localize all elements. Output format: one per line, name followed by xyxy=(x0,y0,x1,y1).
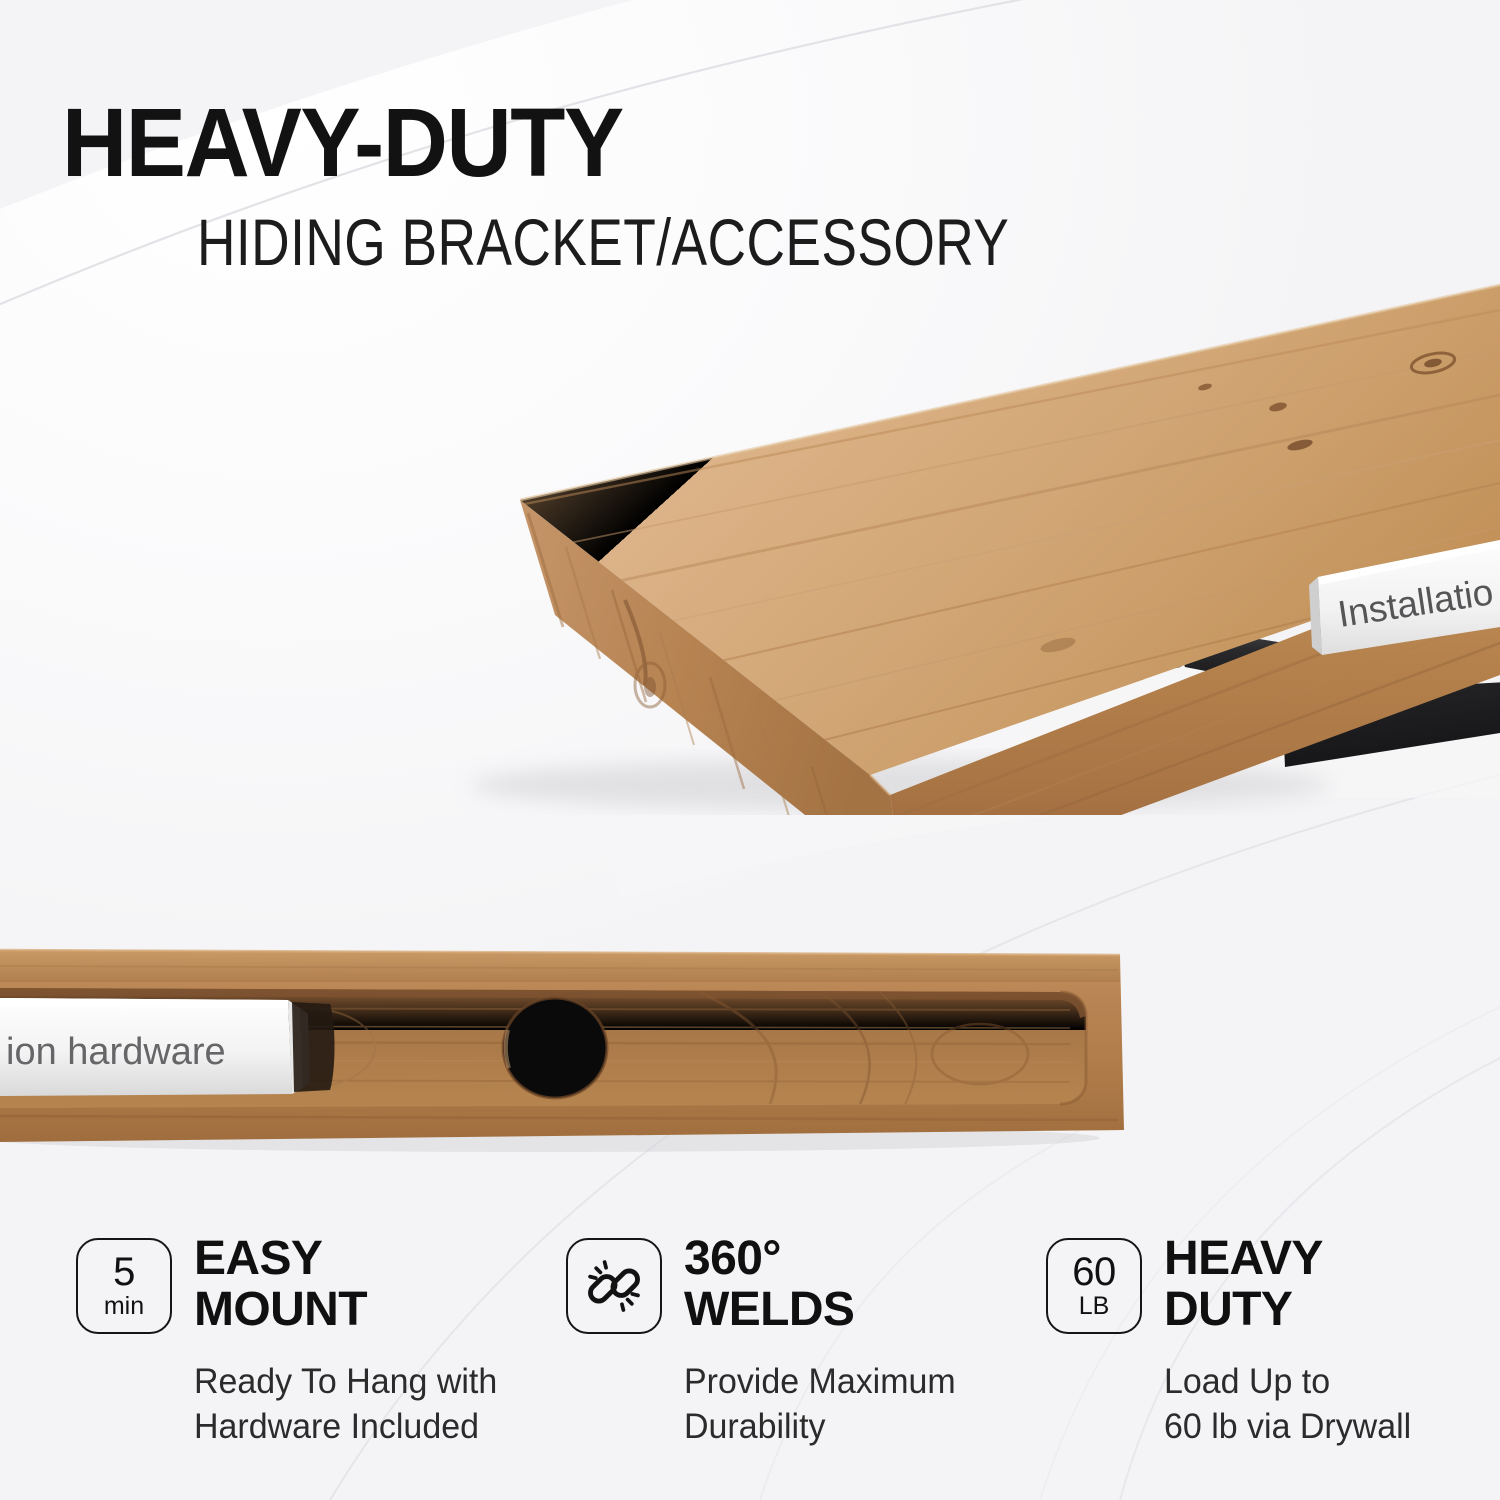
feature-head: 60 LB HEAVY DUTY xyxy=(1046,1238,1500,1336)
badge-60-lb: 60 LB xyxy=(1046,1238,1142,1334)
badge-unit: min xyxy=(104,1293,144,1319)
feature-head: 360° WELDS xyxy=(566,1238,1046,1336)
feature-head: 5 min EASY MOUNT xyxy=(76,1238,566,1336)
feature-easy-mount: 5 min EASY MOUNT Ready To Hang with Hard… xyxy=(0,1238,566,1468)
badge-chain-link xyxy=(566,1238,662,1334)
headline-block: HEAVY-DUTY HIDING BRACKET/ACCESSORY xyxy=(62,96,1162,276)
product-photo-lower-groove: ion hardware xyxy=(0,930,1500,1170)
installation-hardware-box-lower: ion hardware xyxy=(0,998,335,1096)
badge-5-min: 5 min xyxy=(76,1238,172,1334)
hardware-box-label-lower: ion hardware xyxy=(6,1031,226,1073)
feature-title: EASY MOUNT xyxy=(194,1234,367,1336)
page-title: HEAVY-DUTY xyxy=(62,96,1085,189)
product-infographic: HEAVY-DUTY HIDING BRACKET/ACCESSORY xyxy=(0,0,1500,1500)
badge-number: 5 xyxy=(113,1253,135,1292)
feature-row: 5 min EASY MOUNT Ready To Hang with Hard… xyxy=(0,1238,1500,1468)
feature-title: 360° WELDS xyxy=(684,1234,854,1336)
badge-unit: LB xyxy=(1079,1293,1110,1319)
feature-description: Ready To Hang with Hardware Included xyxy=(194,1360,555,1450)
feature-360-welds: 360° WELDS Provide Maximum Durability xyxy=(566,1238,1046,1468)
feature-description: Load Up to 60 lb via Drywall xyxy=(1164,1360,1496,1450)
chain-link-icon xyxy=(584,1256,644,1316)
product-photo-upper-shelf: Installatio xyxy=(0,255,1500,815)
feature-description: Provide Maximum Durability xyxy=(684,1360,1035,1450)
feature-heavy-duty: 60 LB HEAVY DUTY Load Up to 60 lb via Dr… xyxy=(1046,1238,1500,1468)
badge-number: 60 xyxy=(1072,1253,1116,1292)
feature-title: HEAVY DUTY xyxy=(1164,1234,1323,1336)
mounting-hole xyxy=(503,998,607,1098)
